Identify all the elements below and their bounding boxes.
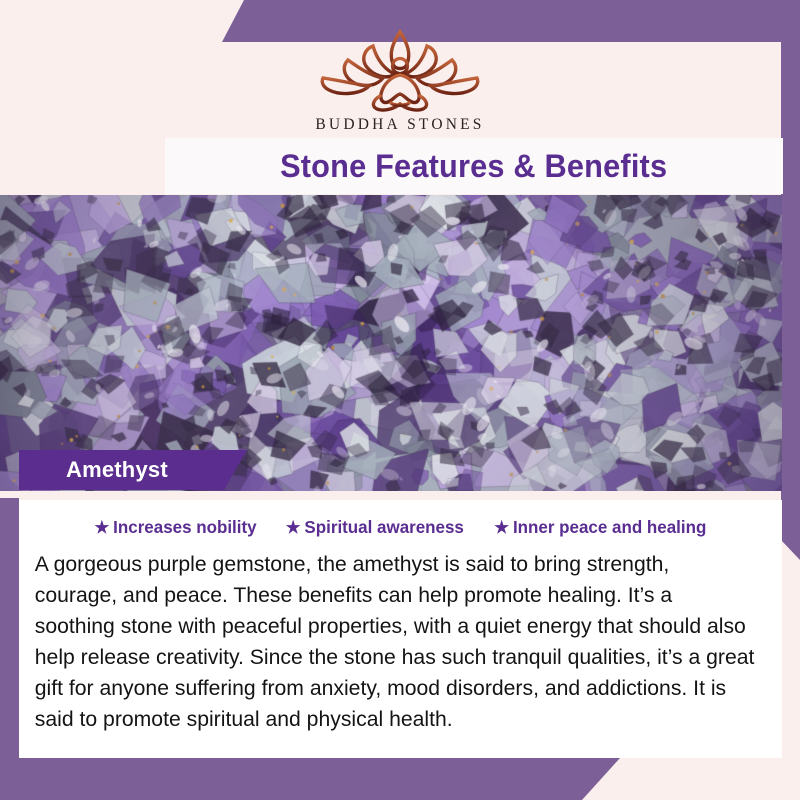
stone-description: A gorgeous purple gemstone, the amethyst… <box>19 549 771 735</box>
feature-item: ★ Spiritual awareness <box>286 517 464 538</box>
feature-label: Spiritual awareness <box>304 517 463 538</box>
feature-label: Increases nobility <box>113 517 256 538</box>
feature-list: ★ Increases nobility ★ Spiritual awarene… <box>19 500 782 538</box>
hero-image <box>0 195 782 491</box>
feature-item: ★ Increases nobility <box>94 517 256 538</box>
lotus-meditation-figure-icon <box>307 22 493 114</box>
star-icon: ★ <box>286 519 301 536</box>
brand-name: BUDDHA STONES <box>0 116 800 134</box>
star-icon: ★ <box>494 519 509 536</box>
amethyst-crystal-cluster-photo <box>0 195 782 491</box>
star-icon: ★ <box>94 519 109 536</box>
page-title-bar: Stone Features & Benefits <box>165 138 783 194</box>
feature-item: ★ Inner peace and healing <box>494 517 706 538</box>
stone-name: Amethyst <box>19 457 168 483</box>
decorative-band-left <box>0 498 19 800</box>
feature-label: Inner peace and healing <box>512 517 705 538</box>
page-title: Stone Features & Benefits <box>280 148 667 185</box>
content-panel: ★ Increases nobility ★ Spiritual awarene… <box>19 500 782 758</box>
stone-name-banner: Amethyst <box>19 450 247 490</box>
infographic-page: BUDDHA STONES Stone Features & Benefits … <box>0 0 800 800</box>
decorative-band-bottom <box>0 758 620 800</box>
brand-logo: BUDDHA STONES <box>0 22 800 134</box>
